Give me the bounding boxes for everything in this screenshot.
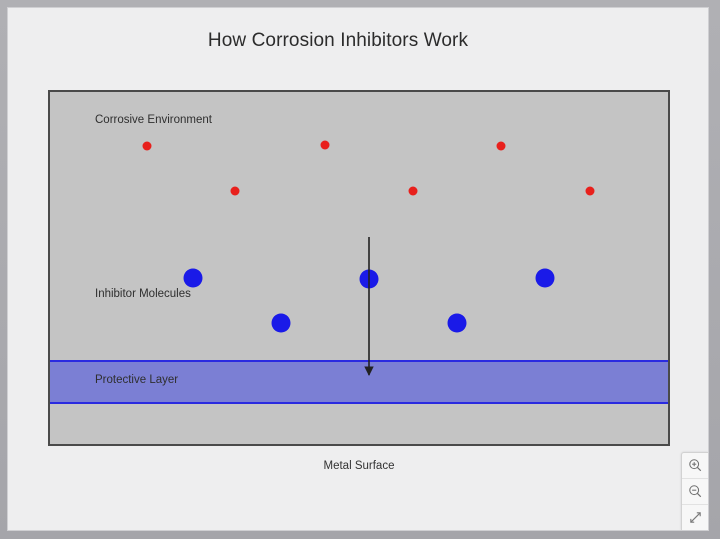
corrosive-particle [497,142,506,151]
corrosive-particle [231,187,240,196]
page-title: How Corrosion Inhibitors Work [8,30,668,52]
inhibitor-molecule [536,269,555,288]
zoom-controls [681,452,708,530]
zoom-out-button[interactable] [682,479,708,505]
inhibitor-molecule [272,314,291,333]
label-metal-surface: Metal Surface [48,460,670,472]
corrosive-particle [143,142,152,151]
fullscreen-button[interactable] [682,505,708,530]
label-protective-layer: Protective Layer [95,374,178,386]
inhibitor-molecule [184,269,203,288]
zoom-in-icon [688,458,703,473]
inhibitor-molecule [360,270,379,289]
label-inhibitor-molecules: Inhibitor Molecules [95,288,191,300]
label-corrosive-environment: Corrosive Environment [95,114,212,126]
viewer-frame: How Corrosion Inhibitors Work Corrosive … [0,0,720,539]
expand-arrows-icon [688,510,703,525]
diagram-canvas: Corrosive Environment Inhibitor Molecule… [48,90,670,446]
page-surface: How Corrosion Inhibitors Work Corrosive … [8,8,708,530]
corrosive-particle [586,187,595,196]
zoom-out-icon [688,484,703,499]
zoom-in-button[interactable] [682,453,708,479]
inhibitor-molecule [448,314,467,333]
corrosive-particle [409,187,418,196]
corrosive-particle [321,141,330,150]
